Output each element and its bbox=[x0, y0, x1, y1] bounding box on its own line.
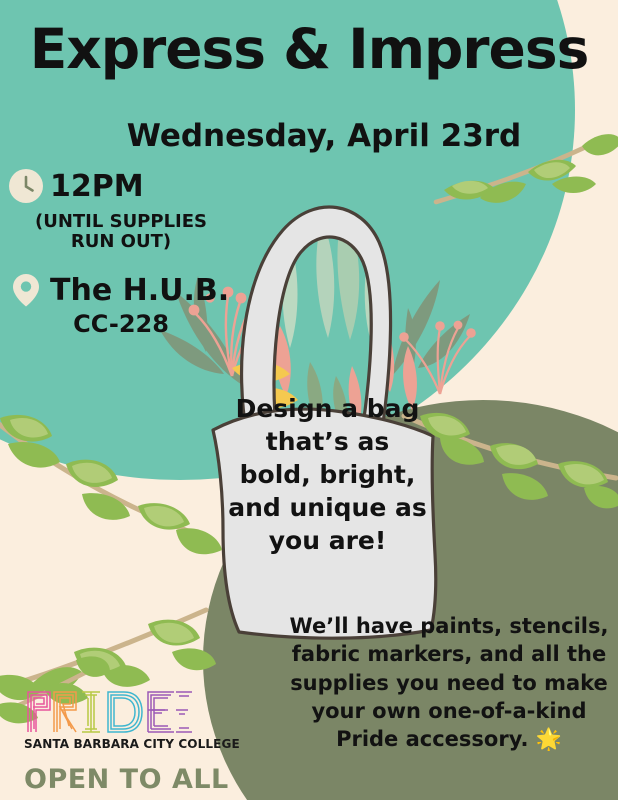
time-value: 12PM bbox=[50, 169, 144, 204]
blurb-line2: fabric markers, and all the bbox=[284, 640, 614, 668]
location-room: CC-228 bbox=[46, 310, 196, 338]
institution-name: SANTA BARBARA CITY COLLEGE bbox=[24, 737, 220, 751]
bag-message-line2: that’s as bbox=[205, 425, 450, 458]
time-note: (UNTIL SUPPLIES RUN OUT) bbox=[26, 212, 216, 252]
pride-logo-lockup: SANTA BARBARA CITY COLLEGE OPEN TO ALL bbox=[24, 688, 224, 795]
supplies-blurb: We’ll have paints, stencils, fabric mark… bbox=[284, 612, 614, 754]
time-note-line2: RUN OUT) bbox=[26, 232, 216, 252]
blurb-line5-wrap: Pride accessory. 🌟 bbox=[284, 725, 614, 753]
clock-icon bbox=[8, 168, 44, 204]
bag-message-line3: bold, bright, bbox=[205, 458, 450, 491]
bag-message-line1: Design a bag bbox=[205, 392, 450, 425]
glowing-star-icon: 🌟 bbox=[536, 727, 562, 751]
poster-canvas: Express & Impress Wednesday, April 23rd … bbox=[0, 0, 618, 800]
bag-message-line5: you are! bbox=[205, 524, 450, 557]
time-note-line1: (UNTIL SUPPLIES bbox=[26, 212, 216, 232]
blurb-line5: Pride accessory. bbox=[336, 727, 528, 751]
blurb-line3: supplies you need to make bbox=[284, 669, 614, 697]
blurb-line4: your own one-of-a-kind bbox=[284, 697, 614, 725]
bag-message-line4: and unique as bbox=[205, 491, 450, 524]
time-row: 12PM bbox=[8, 168, 144, 204]
location-row: The H.U.B. bbox=[8, 272, 229, 308]
bag-message: Design a bag that’s as bold, bright, and… bbox=[205, 392, 450, 557]
poster-title: Express & Impress bbox=[0, 22, 618, 77]
blurb-line1: We’ll have paints, stencils, bbox=[284, 612, 614, 640]
location-venue: The H.U.B. bbox=[50, 273, 229, 308]
pride-wordmark-icon bbox=[24, 688, 196, 736]
map-pin-icon bbox=[8, 272, 44, 308]
open-to-all-tagline: OPEN TO ALL bbox=[24, 764, 224, 795]
poster-date: Wednesday, April 23rd bbox=[0, 118, 618, 154]
